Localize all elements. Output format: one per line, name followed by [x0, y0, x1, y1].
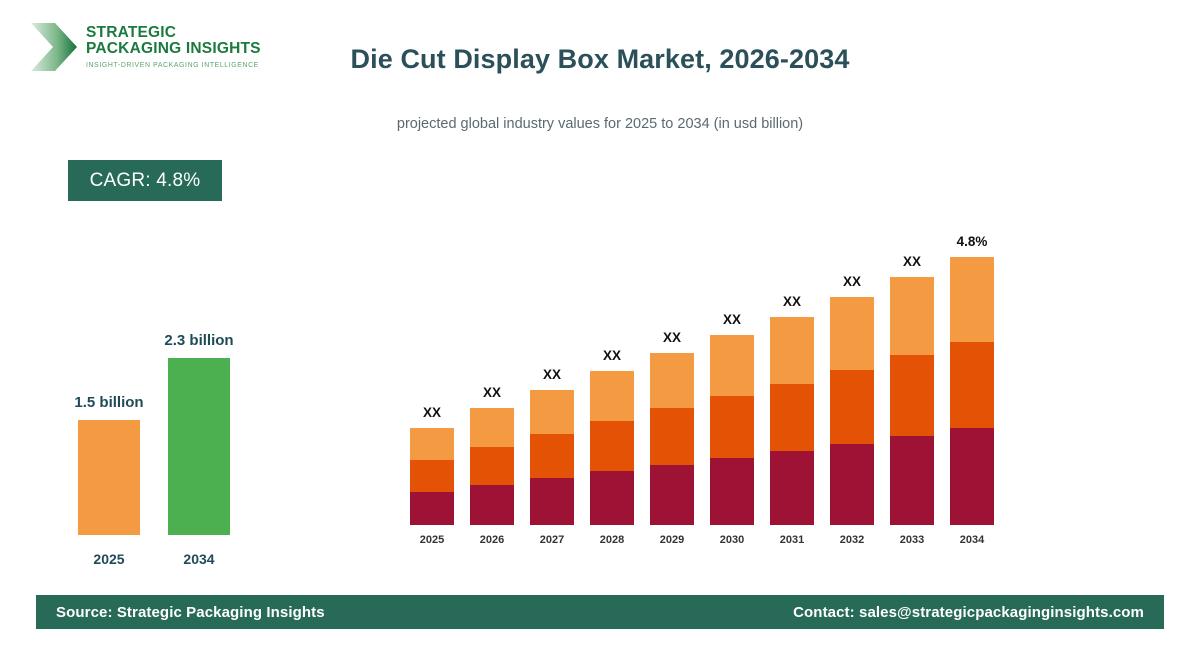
- bar-segment-segment-1: [770, 451, 814, 525]
- bar-segment-segment-1: [530, 478, 574, 525]
- bar-segment-segment-3: [770, 317, 814, 384]
- page-title: Die Cut Display Box Market, 2026-2034: [0, 44, 1200, 75]
- stacked-bar-value-label: XX: [512, 367, 592, 382]
- mini-bar-2025: [78, 420, 140, 535]
- bar-segment-segment-2: [470, 447, 514, 485]
- bar-segment-segment-1: [830, 444, 874, 525]
- stacked-bar-value-label: 4.8%: [932, 234, 1012, 249]
- bar-segment-segment-3: [830, 297, 874, 370]
- stacked-bar-2030: [710, 335, 754, 525]
- bar-segment-segment-3: [410, 428, 454, 460]
- stacked-bar-value-label: XX: [752, 294, 832, 309]
- stacked-bar-2026: [470, 408, 514, 525]
- bar-segment-segment-2: [650, 408, 694, 464]
- stacked-bar-value-label: XX: [872, 254, 952, 269]
- bar-segment-segment-3: [890, 277, 934, 355]
- stacked-bar-2028: [590, 371, 634, 525]
- bar-segment-segment-2: [890, 355, 934, 435]
- bar-segment-segment-2: [950, 342, 994, 428]
- stacked-bar-value-label: XX: [812, 274, 892, 289]
- bar-segment-segment-1: [650, 465, 694, 525]
- stacked-bar-value-label: XX: [452, 385, 532, 400]
- mini-bar-fill: [78, 420, 140, 535]
- bar-segment-segment-3: [650, 353, 694, 409]
- bar-segment-segment-2: [770, 384, 814, 452]
- page-subtitle: projected global industry values for 202…: [0, 116, 1200, 132]
- bar-segment-segment-3: [470, 408, 514, 446]
- bar-segment-segment-2: [530, 434, 574, 478]
- mini-bar-2034: [168, 358, 230, 535]
- bar-segment-segment-3: [710, 335, 754, 396]
- bar-segment-segment-3: [950, 257, 994, 342]
- stacked-bar-value-label: XX: [392, 405, 472, 420]
- bar-segment-segment-1: [590, 471, 634, 525]
- mini-bar-value-label: 1.5 billion: [39, 394, 179, 411]
- stacked-bar-2033: [890, 277, 934, 525]
- footer-source: Source: Strategic Packaging Insights: [56, 604, 325, 621]
- bar-segment-segment-2: [590, 421, 634, 471]
- stacked-bar-2032: [830, 297, 874, 525]
- footer-bar: Source: Strategic Packaging Insights Con…: [36, 595, 1164, 629]
- bar-segment-segment-3: [590, 371, 634, 421]
- bar-segment-segment-2: [830, 370, 874, 444]
- stacked-bar-2027: [530, 390, 574, 525]
- bar-segment-segment-1: [950, 428, 994, 525]
- bar-segment-segment-2: [410, 460, 454, 492]
- infographic-page: STRATEGIC PACKAGING INSIGHTS INSIGHT-DRI…: [0, 0, 1200, 650]
- bar-segment-segment-1: [410, 492, 454, 525]
- bar-segment-segment-1: [890, 436, 934, 525]
- stacked-bar-2031: [770, 317, 814, 526]
- bar-segment-segment-2: [710, 396, 754, 458]
- axis-label-2034: 2034: [932, 534, 1012, 546]
- logo-line-1: STRATEGIC: [86, 25, 261, 41]
- bar-segment-segment-1: [710, 458, 754, 525]
- mini-bar-value-label: 2.3 billion: [129, 332, 269, 349]
- cagr-badge: CAGR: 4.8%: [68, 160, 222, 201]
- stacked-bar-2034: [950, 257, 994, 525]
- stacked-bar-value-label: XX: [692, 312, 772, 327]
- endpoint-bar-chart: 1.5 billion20252.3 billion2034: [0, 300, 330, 580]
- bar-segment-segment-3: [530, 390, 574, 434]
- stacked-bar-value-label: XX: [632, 330, 712, 345]
- footer-contact[interactable]: Contact: sales@strategicpackaginginsight…: [793, 604, 1144, 621]
- stacked-bar-2029: [650, 353, 694, 525]
- bar-segment-segment-1: [470, 485, 514, 525]
- mini-axis-label-2034: 2034: [129, 551, 269, 567]
- mini-bar-fill: [168, 358, 230, 535]
- stacked-bar-value-label: XX: [572, 348, 652, 363]
- stacked-bar-2025: [410, 428, 454, 525]
- projected-stacked-bar-chart: XX2025XX2026XX2027XX2028XX2029XX2030XX20…: [400, 190, 1020, 550]
